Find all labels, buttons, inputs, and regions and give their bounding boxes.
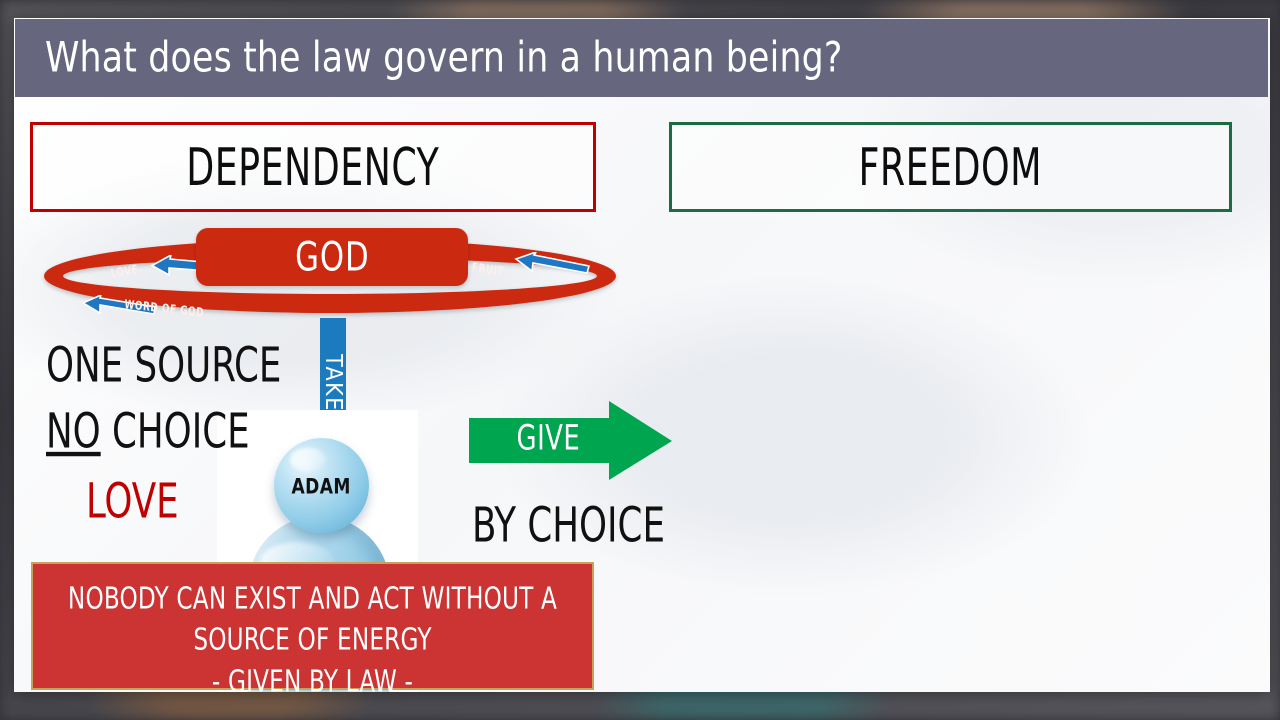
header-label-dependency: DEPENDENCY — [187, 137, 440, 197]
law-banner: NOBODY CAN EXIST AND ACT WITHOUT A SOURC… — [31, 562, 594, 690]
statement-choice-rest: CHOICE — [101, 403, 250, 459]
fruit-arrow-icon — [512, 252, 592, 276]
slide-stage: What does the law govern in a human bein… — [0, 0, 1280, 720]
header-label-freedom: FREEDOM — [859, 137, 1042, 197]
law-line-2: SOURCE OF ENERGY — [55, 618, 569, 663]
adam-head-sphere[interactable]: ADAM — [274, 438, 369, 533]
statement-one-source: ONE SOURCE — [46, 337, 281, 393]
give-label: GIVE — [517, 417, 581, 458]
header-box-dependency[interactable]: DEPENDENCY — [30, 122, 596, 212]
god-ring-group: LOVE FRUIT WORD OF GOD GOD — [30, 223, 620, 323]
law-line-3: - GIVEN BY LAW - — [55, 659, 569, 692]
page-title: What does the law govern in a human bein… — [45, 33, 843, 82]
give-arrow[interactable]: GIVE — [469, 401, 674, 481]
statement-no-choice: NO CHOICE — [46, 403, 250, 459]
slide-canvas: What does the law govern in a human bein… — [14, 18, 1270, 692]
god-box[interactable]: GOD — [196, 228, 468, 286]
statement-by-choice: BY CHOICE — [472, 497, 665, 553]
god-label: GOD — [295, 234, 369, 280]
statement-no-underlined: NO — [46, 403, 101, 459]
adam-label: ADAM — [292, 473, 351, 499]
law-line-1: NOBODY CAN EXIST AND ACT WITHOUT A — [55, 576, 569, 621]
header-box-freedom[interactable]: FREEDOM — [669, 122, 1232, 212]
take-label: TAKE — [320, 354, 346, 412]
title-banner: What does the law govern in a human bein… — [15, 19, 1268, 97]
statement-love: LOVE — [86, 473, 179, 529]
